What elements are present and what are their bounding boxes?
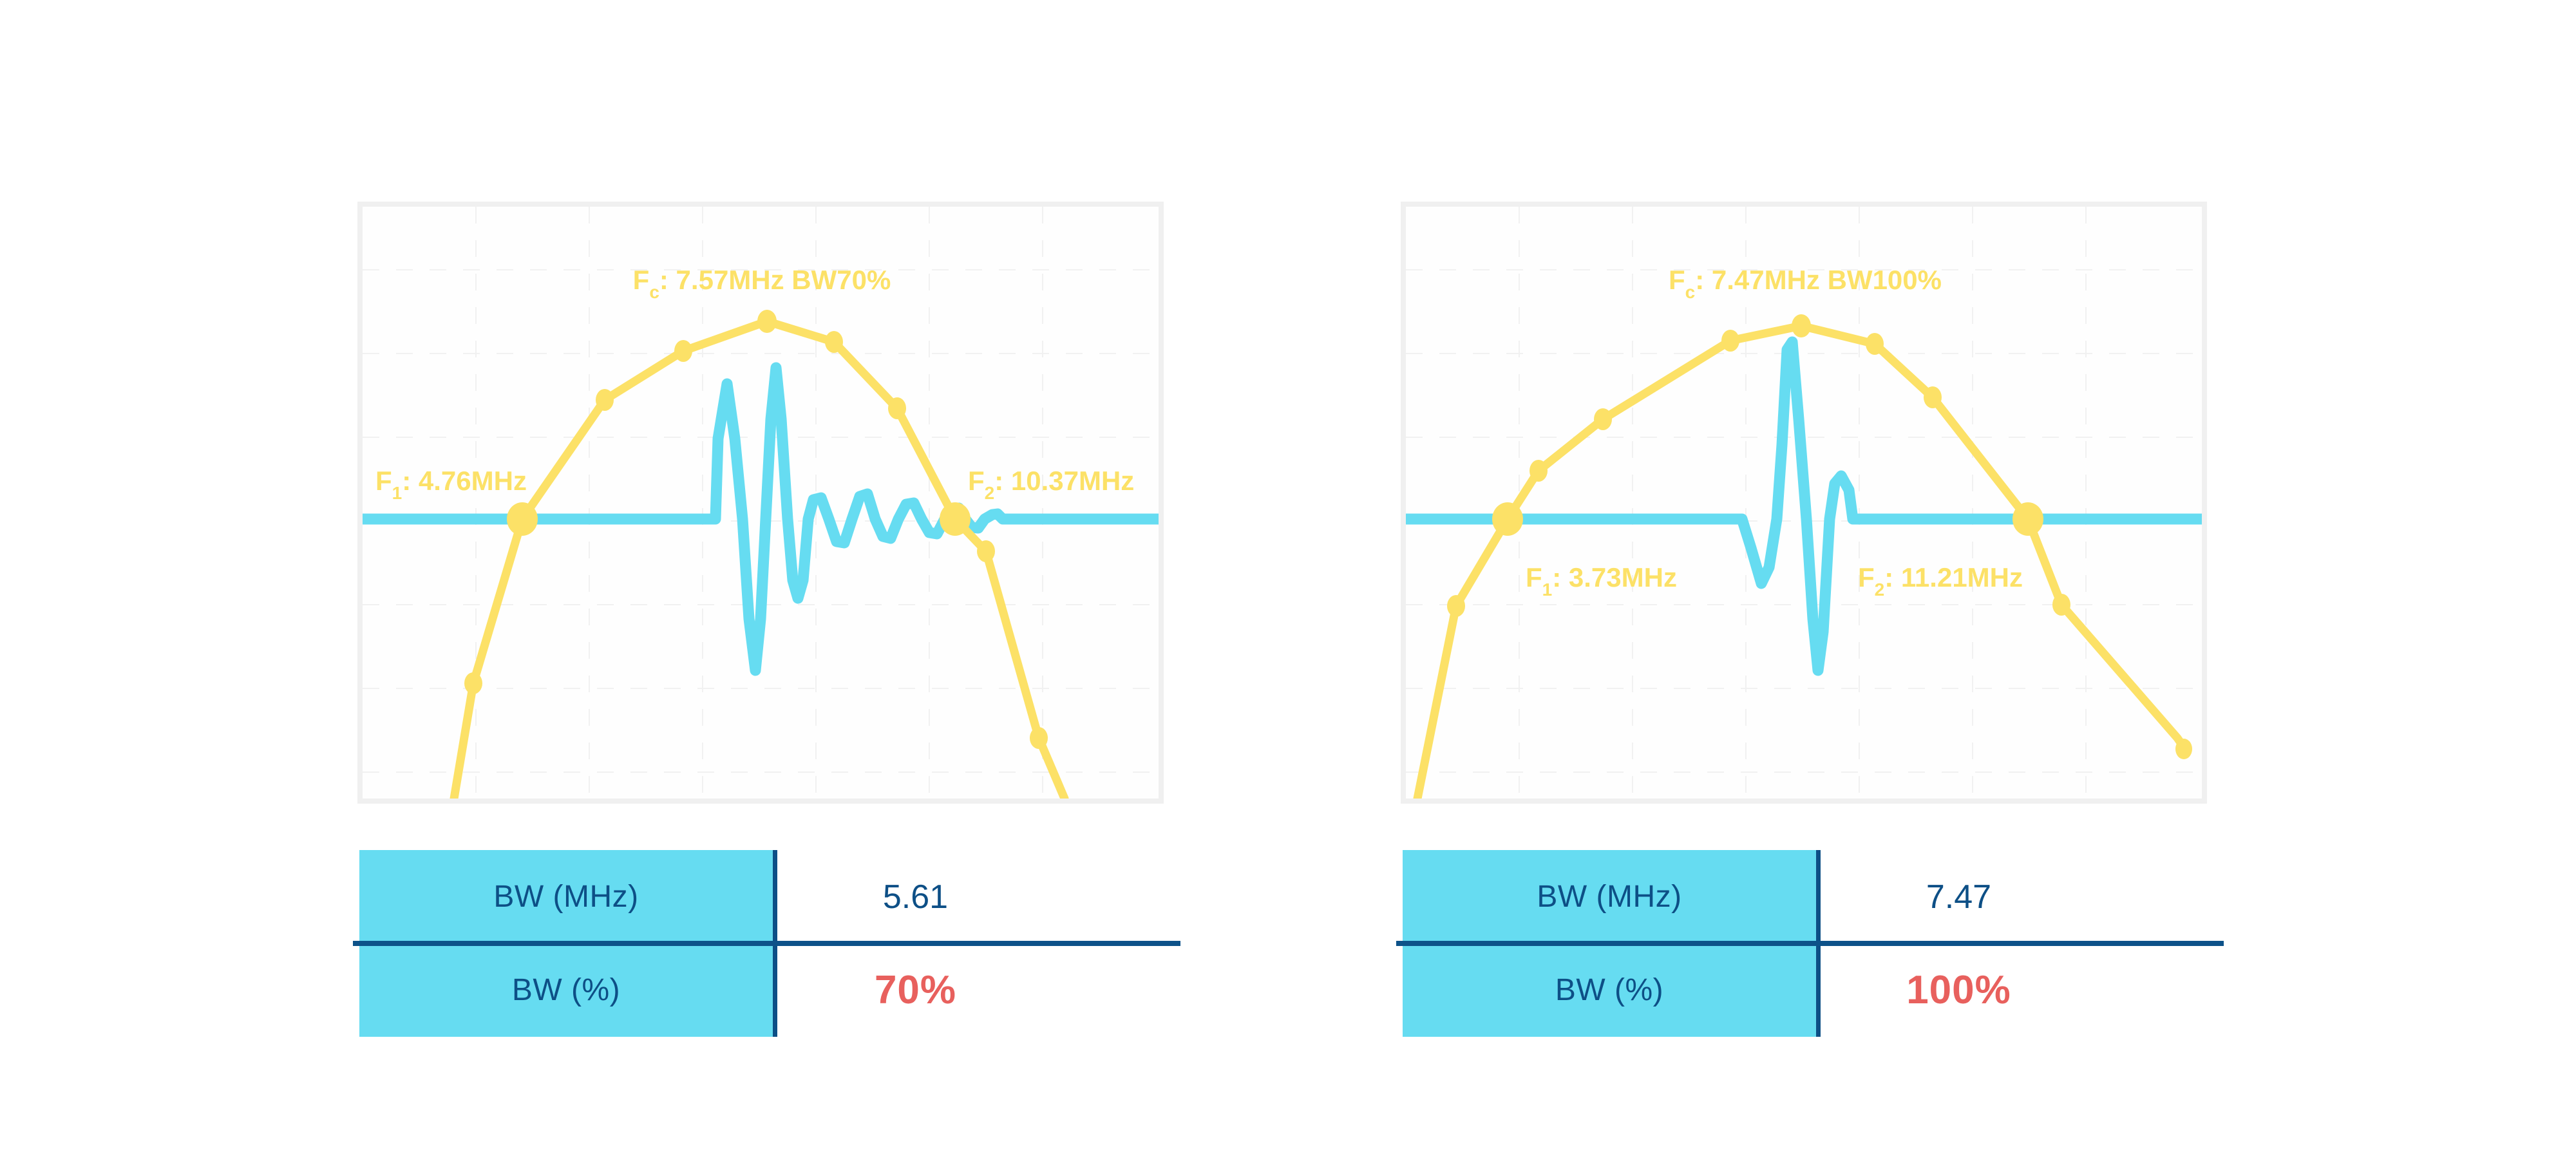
f2-label-right: F2: 11.21MHz xyxy=(1858,562,2023,600)
f2-marker-right xyxy=(2012,502,2043,536)
table-horizontal-divider-right xyxy=(1396,941,2224,946)
bw-table-right: BW (MHz) 7.47 BW (%) 100% xyxy=(1403,850,2224,1037)
table-row: BW (%) 70% xyxy=(359,943,1180,1037)
bw-pct-label-right: BW (%) xyxy=(1403,943,1816,1037)
chart-panel-right: Fc: 7.47MHz BW100% F1: 3.73MHz F2: 11.21… xyxy=(1401,202,2207,804)
grid-lines-left xyxy=(363,207,1159,799)
f2-marker-left xyxy=(940,502,971,536)
f1-marker-right xyxy=(1492,502,1523,536)
pulse-waveform-left xyxy=(363,368,1159,670)
bw-pct-value-cell-right: 100% xyxy=(1816,943,2224,1037)
f1-label-left: F1: 4.76MHz xyxy=(375,466,527,503)
fc-label-left: Fc: 7.57MHz BW70% xyxy=(633,265,891,302)
bw-mhz-value-left: 5.61 xyxy=(883,878,948,916)
bw-mhz-value-cell-right: 7.47 xyxy=(1816,850,2224,943)
table-row: BW (%) 100% xyxy=(1403,943,2224,1037)
bw-mhz-label-left: BW (MHz) xyxy=(359,850,773,943)
table-row: BW (MHz) 5.61 xyxy=(359,850,1180,943)
bw-mhz-label-right: BW (MHz) xyxy=(1403,850,1816,943)
chart-panel-left: Fc: 7.57MHz BW70% F1: 4.76MHz F2: 10.37M… xyxy=(357,202,1164,804)
f1-label-right: F1: 3.73MHz xyxy=(1526,562,1677,600)
figure-root: Fc: 7.57MHz BW70% F1: 4.76MHz F2: 10.37M… xyxy=(0,0,2576,1154)
plot-area-left: Fc: 7.57MHz BW70% F1: 4.76MHz F2: 10.37M… xyxy=(363,207,1159,799)
table-row: BW (MHz) 7.47 xyxy=(1403,850,2224,943)
table-horizontal-divider-left xyxy=(353,941,1180,946)
bw-pct-label-left: BW (%) xyxy=(359,943,773,1037)
f2-label-left: F2: 10.37MHz xyxy=(968,466,1134,503)
plot-svg-left: Fc: 7.57MHz BW70% F1: 4.76MHz F2: 10.37M… xyxy=(363,207,1159,799)
bw-pct-value-cell-left: 70% xyxy=(773,943,1180,1037)
plot-area-right: Fc: 7.47MHz BW100% F1: 3.73MHz F2: 11.21… xyxy=(1406,207,2202,799)
bw-table-left: BW (MHz) 5.61 BW (%) 70% xyxy=(359,850,1180,1037)
bw-pct-value-left: 70% xyxy=(875,967,956,1013)
pulse-waveform-right xyxy=(1406,342,2202,670)
bw-mhz-value-right: 7.47 xyxy=(1926,878,1991,916)
bw-pct-value-right: 100% xyxy=(1906,967,2011,1013)
fc-label-right: Fc: 7.47MHz BW100% xyxy=(1669,265,1942,302)
plot-svg-right: Fc: 7.47MHz BW100% F1: 3.73MHz F2: 11.21… xyxy=(1406,207,2202,799)
bw-mhz-value-cell-left: 5.61 xyxy=(773,850,1180,943)
spectrum-markers-right xyxy=(1447,314,2192,759)
f1-marker-left xyxy=(507,502,538,536)
